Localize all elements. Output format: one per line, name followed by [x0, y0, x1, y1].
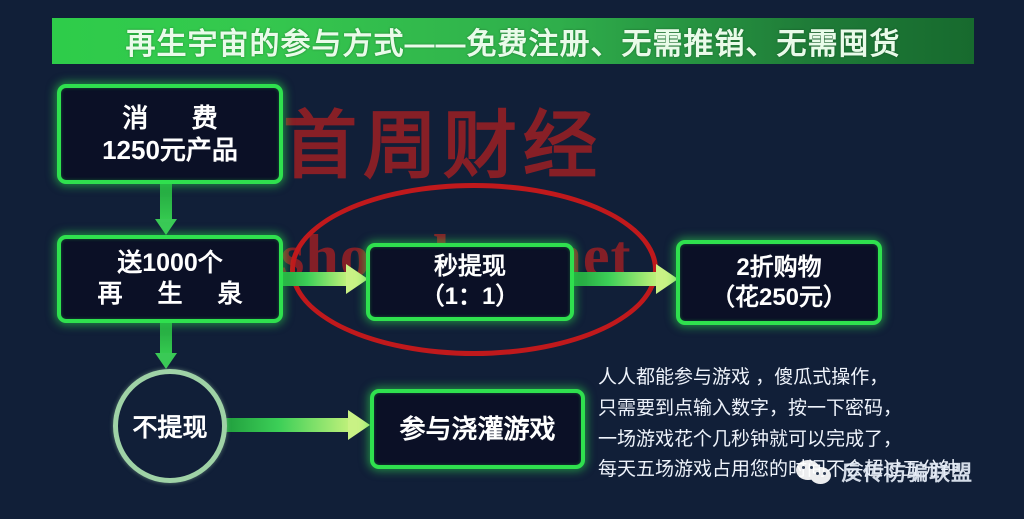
arrow-withdraw-to-discount — [570, 264, 678, 294]
flow-node-reward-line2: 再 生 泉 — [84, 279, 257, 310]
flow-node-withdraw-line1: 秒提现 — [434, 252, 506, 282]
brand-watermark: 首周财经 — [283, 86, 603, 193]
wechat-eye-dot — [816, 472, 819, 475]
flow-node-discount-line2: （花250元） — [711, 283, 847, 313]
flow-node-instant-withdraw: 秒提现 （1：1） — [366, 243, 574, 321]
description-line-3: 一场游戏花个几秒钟就可以完成了， — [598, 425, 998, 456]
header-banner: 再生宇宙的参与方式——免费注册、无需推销、无需囤货 — [52, 18, 974, 64]
flow-node-reward: 送1000个 再 生 泉 — [57, 235, 283, 323]
wechat-bubble-small — [810, 467, 831, 484]
arrow-head — [348, 410, 370, 440]
arrow-reward-to-no-withdraw — [155, 315, 177, 369]
wechat-eye-dot — [802, 466, 805, 469]
flow-node-reward-line1: 送1000个 — [117, 248, 223, 279]
slide-canvas: 再生宇宙的参与方式——免费注册、无需推销、无需囤货 首周财经 shouzhou.… — [0, 0, 1024, 519]
wechat-account-name: 反传防骗联盟 — [841, 457, 973, 487]
flow-node-watering-game: 参与浇灌游戏 — [370, 389, 585, 469]
wechat-eye-dot — [823, 472, 826, 475]
page-title: 再生宇宙的参与方式——免费注册、无需推销、无需囤货 — [126, 19, 901, 63]
arrow-head — [155, 219, 177, 235]
flow-node-discount-shopping: 2折购物 （花250元） — [676, 240, 882, 325]
arrow-no-withdraw-to-game — [222, 410, 372, 440]
flow-node-consume-line2: 1250元产品 — [102, 134, 238, 167]
arrow-head — [155, 353, 177, 369]
wechat-icon — [796, 458, 834, 486]
flow-node-no-withdraw-label: 不提现 — [132, 408, 207, 444]
arrow-consume-to-reward — [155, 176, 177, 235]
flow-node-discount-line1: 2折购物 — [736, 253, 821, 283]
wechat-watermark: 反传防骗联盟 — [796, 457, 973, 487]
description-line-2: 只需要到点输入数字，按一下密码， — [598, 394, 998, 425]
wechat-eye-dot — [810, 466, 813, 469]
flow-node-game-label: 参与浇灌游戏 — [399, 413, 555, 446]
arrow-shaft — [276, 272, 346, 286]
flow-node-no-withdraw: 不提现 — [113, 369, 227, 483]
arrow-head — [656, 264, 678, 294]
flow-node-consume-line1: 消 费 — [104, 102, 235, 135]
arrow-head — [346, 264, 368, 294]
arrow-shaft — [222, 418, 348, 432]
description-line-1: 人人都能参与游戏 ，傻瓜式操作， — [598, 363, 998, 394]
arrow-reward-to-withdraw — [276, 264, 368, 294]
flow-node-consume: 消 费 1250元产品 — [57, 84, 283, 184]
flow-node-withdraw-line2: （1：1） — [421, 282, 520, 312]
arrow-shaft — [570, 272, 656, 286]
